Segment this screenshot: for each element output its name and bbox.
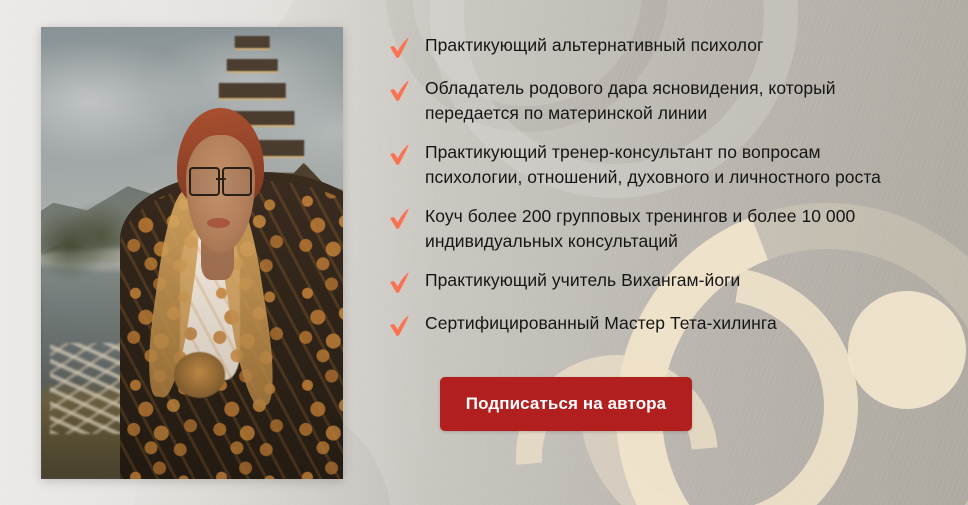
checkmark-icon bbox=[386, 269, 414, 297]
list-item-label: Обладатель родового дара ясновидения, ко… bbox=[425, 76, 836, 126]
list-item-label: Практикующий альтернативный психолог bbox=[425, 33, 763, 58]
list-item: Практикующий альтернативный психолог bbox=[386, 33, 946, 62]
list-item: Практикующий учитель Вихангам-йоги bbox=[386, 268, 946, 297]
list-item: Коуч более 200 групповых тренингов и бол… bbox=[386, 204, 946, 254]
checkmark-icon bbox=[386, 34, 414, 62]
list-item-label: Практикующий тренер-консультант по вопро… bbox=[425, 140, 881, 190]
list-item: Обладатель родового дара ясновидения, ко… bbox=[386, 76, 946, 126]
checkmark-icon bbox=[386, 77, 414, 105]
list-item-label: Сертифицированный Мастер Тета-хилинга bbox=[425, 311, 777, 336]
list-item-label: Коуч более 200 групповых тренингов и бол… bbox=[425, 204, 855, 254]
author-photo bbox=[41, 27, 343, 479]
checkmark-icon bbox=[386, 141, 414, 169]
author-bio-card: Практикующий альтернативный психолог Обл… bbox=[0, 0, 968, 505]
photo-color-grade bbox=[41, 27, 343, 479]
list-item: Сертифицированный Мастер Тета-хилинга bbox=[386, 311, 946, 340]
credentials-list: Практикующий альтернативный психолог Обл… bbox=[386, 33, 946, 354]
subscribe-to-author-button[interactable]: Подписаться на автора bbox=[440, 377, 692, 431]
checkmark-icon bbox=[386, 205, 414, 233]
checkmark-icon bbox=[386, 312, 414, 340]
list-item: Практикующий тренер-консультант по вопро… bbox=[386, 140, 946, 190]
list-item-label: Практикующий учитель Вихангам-йоги bbox=[425, 268, 740, 293]
